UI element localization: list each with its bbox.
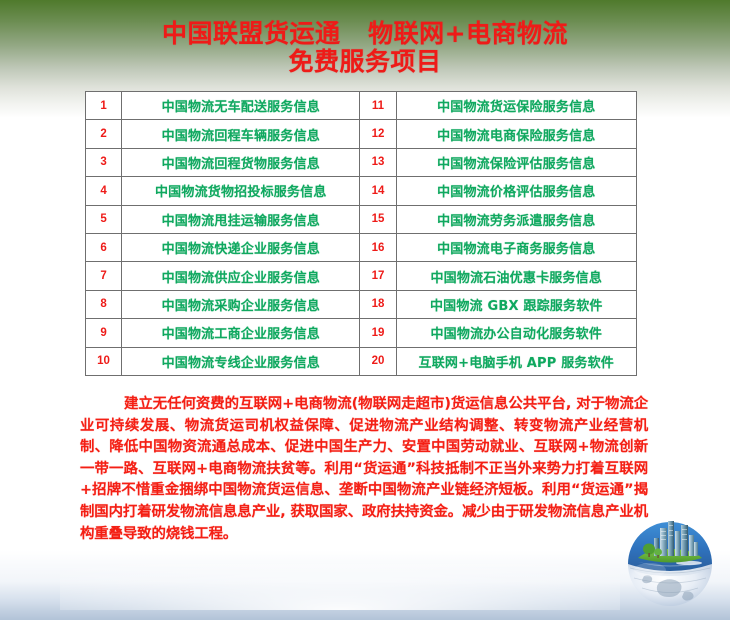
row-number-left: 7: [86, 262, 122, 290]
service-item-left[interactable]: 中国物流快递企业服务信息: [122, 233, 360, 261]
service-items-table-body: 1中国物流无车配送服务信息11中国物流货运保险服务信息2中国物流回程车辆服务信息…: [86, 92, 637, 376]
table-row: 4中国物流货物招投标服务信息14中国物流价格评估服务信息: [86, 177, 637, 205]
table-row: 1中国物流无车配送服务信息11中国物流货运保险服务信息: [86, 92, 637, 120]
title-line-2: 免费服务项目: [0, 48, 730, 76]
service-item-left[interactable]: 中国物流甩挂运输服务信息: [122, 205, 360, 233]
row-number-right: 19: [360, 319, 396, 347]
service-item-right[interactable]: 中国物流劳务派遣服务信息: [396, 205, 636, 233]
table-row: 7中国物流供应企业服务信息17中国物流石油优惠卡服务信息: [86, 262, 637, 290]
table-row: 10中国物流专线企业服务信息20互联网+电脑手机 APP 服务软件: [86, 347, 637, 375]
row-number-left: 5: [86, 205, 122, 233]
service-item-right[interactable]: 中国物流货运保险服务信息: [396, 92, 636, 120]
row-number-left: 9: [86, 319, 122, 347]
row-number-right: 15: [360, 205, 396, 233]
table-row: 3中国物流回程货物服务信息13中国物流保险评估服务信息: [86, 148, 637, 176]
row-number-right: 12: [360, 120, 396, 148]
bottom-light-glow: [60, 564, 620, 610]
table-row: 5中国物流甩挂运输服务信息15中国物流劳务派遣服务信息: [86, 205, 637, 233]
service-item-right[interactable]: 中国物流保险评估服务信息: [396, 148, 636, 176]
row-number-right: 20: [360, 347, 396, 375]
title-line-1: 中国联盟货运通 物联网+电商物流: [0, 20, 730, 48]
row-number-right: 11: [360, 92, 396, 120]
service-item-left[interactable]: 中国物流无车配送服务信息: [122, 92, 360, 120]
row-number-right: 18: [360, 290, 396, 318]
table-row: 9中国物流工商企业服务信息19中国物流办公自动化服务软件: [86, 319, 637, 347]
service-item-left[interactable]: 中国物流回程货物服务信息: [122, 148, 360, 176]
row-number-left: 8: [86, 290, 122, 318]
service-items-table: 1中国物流无车配送服务信息11中国物流货运保险服务信息2中国物流回程车辆服务信息…: [85, 91, 637, 376]
row-number-left: 10: [86, 347, 122, 375]
service-item-right[interactable]: 互联网+电脑手机 APP 服务软件: [396, 347, 636, 375]
service-item-left[interactable]: 中国物流采购企业服务信息: [122, 290, 360, 318]
description-paragraph: 建立无任何资费的互联网+电商物流(物联网走超市)货运信息公共平台, 对于物流企业…: [80, 394, 648, 545]
earth-globe-icon: [616, 514, 724, 618]
row-number-right: 17: [360, 262, 396, 290]
row-number-left: 3: [86, 148, 122, 176]
service-item-left[interactable]: 中国物流工商企业服务信息: [122, 319, 360, 347]
page-title: 中国联盟货运通 物联网+电商物流 免费服务项目: [0, 20, 730, 76]
table-row: 6中国物流快递企业服务信息16中国物流电子商务服务信息: [86, 233, 637, 261]
row-number-right: 16: [360, 233, 396, 261]
row-number-left: 4: [86, 177, 122, 205]
row-number-left: 2: [86, 120, 122, 148]
service-item-right[interactable]: 中国物流 GBX 跟踪服务软件: [396, 290, 636, 318]
row-number-right: 13: [360, 148, 396, 176]
service-item-right[interactable]: 中国物流价格评估服务信息: [396, 177, 636, 205]
service-item-left[interactable]: 中国物流专线企业服务信息: [122, 347, 360, 375]
service-item-right[interactable]: 中国物流石油优惠卡服务信息: [396, 262, 636, 290]
service-item-left[interactable]: 中国物流供应企业服务信息: [122, 262, 360, 290]
service-item-right[interactable]: 中国物流电子商务服务信息: [396, 233, 636, 261]
service-item-left[interactable]: 中国物流回程车辆服务信息: [122, 120, 360, 148]
row-number-right: 14: [360, 177, 396, 205]
row-number-left: 1: [86, 92, 122, 120]
service-item-right[interactable]: 中国物流电商保险服务信息: [396, 120, 636, 148]
slide-canvas: 中国联盟货运通 物联网+电商物流 免费服务项目 1中国物流无车配送服务信息11中…: [0, 0, 730, 620]
table-row: 8中国物流采购企业服务信息18中国物流 GBX 跟踪服务软件: [86, 290, 637, 318]
row-number-left: 6: [86, 233, 122, 261]
service-item-right[interactable]: 中国物流办公自动化服务软件: [396, 319, 636, 347]
table-row: 2中国物流回程车辆服务信息12中国物流电商保险服务信息: [86, 120, 637, 148]
service-item-left[interactable]: 中国物流货物招投标服务信息: [122, 177, 360, 205]
